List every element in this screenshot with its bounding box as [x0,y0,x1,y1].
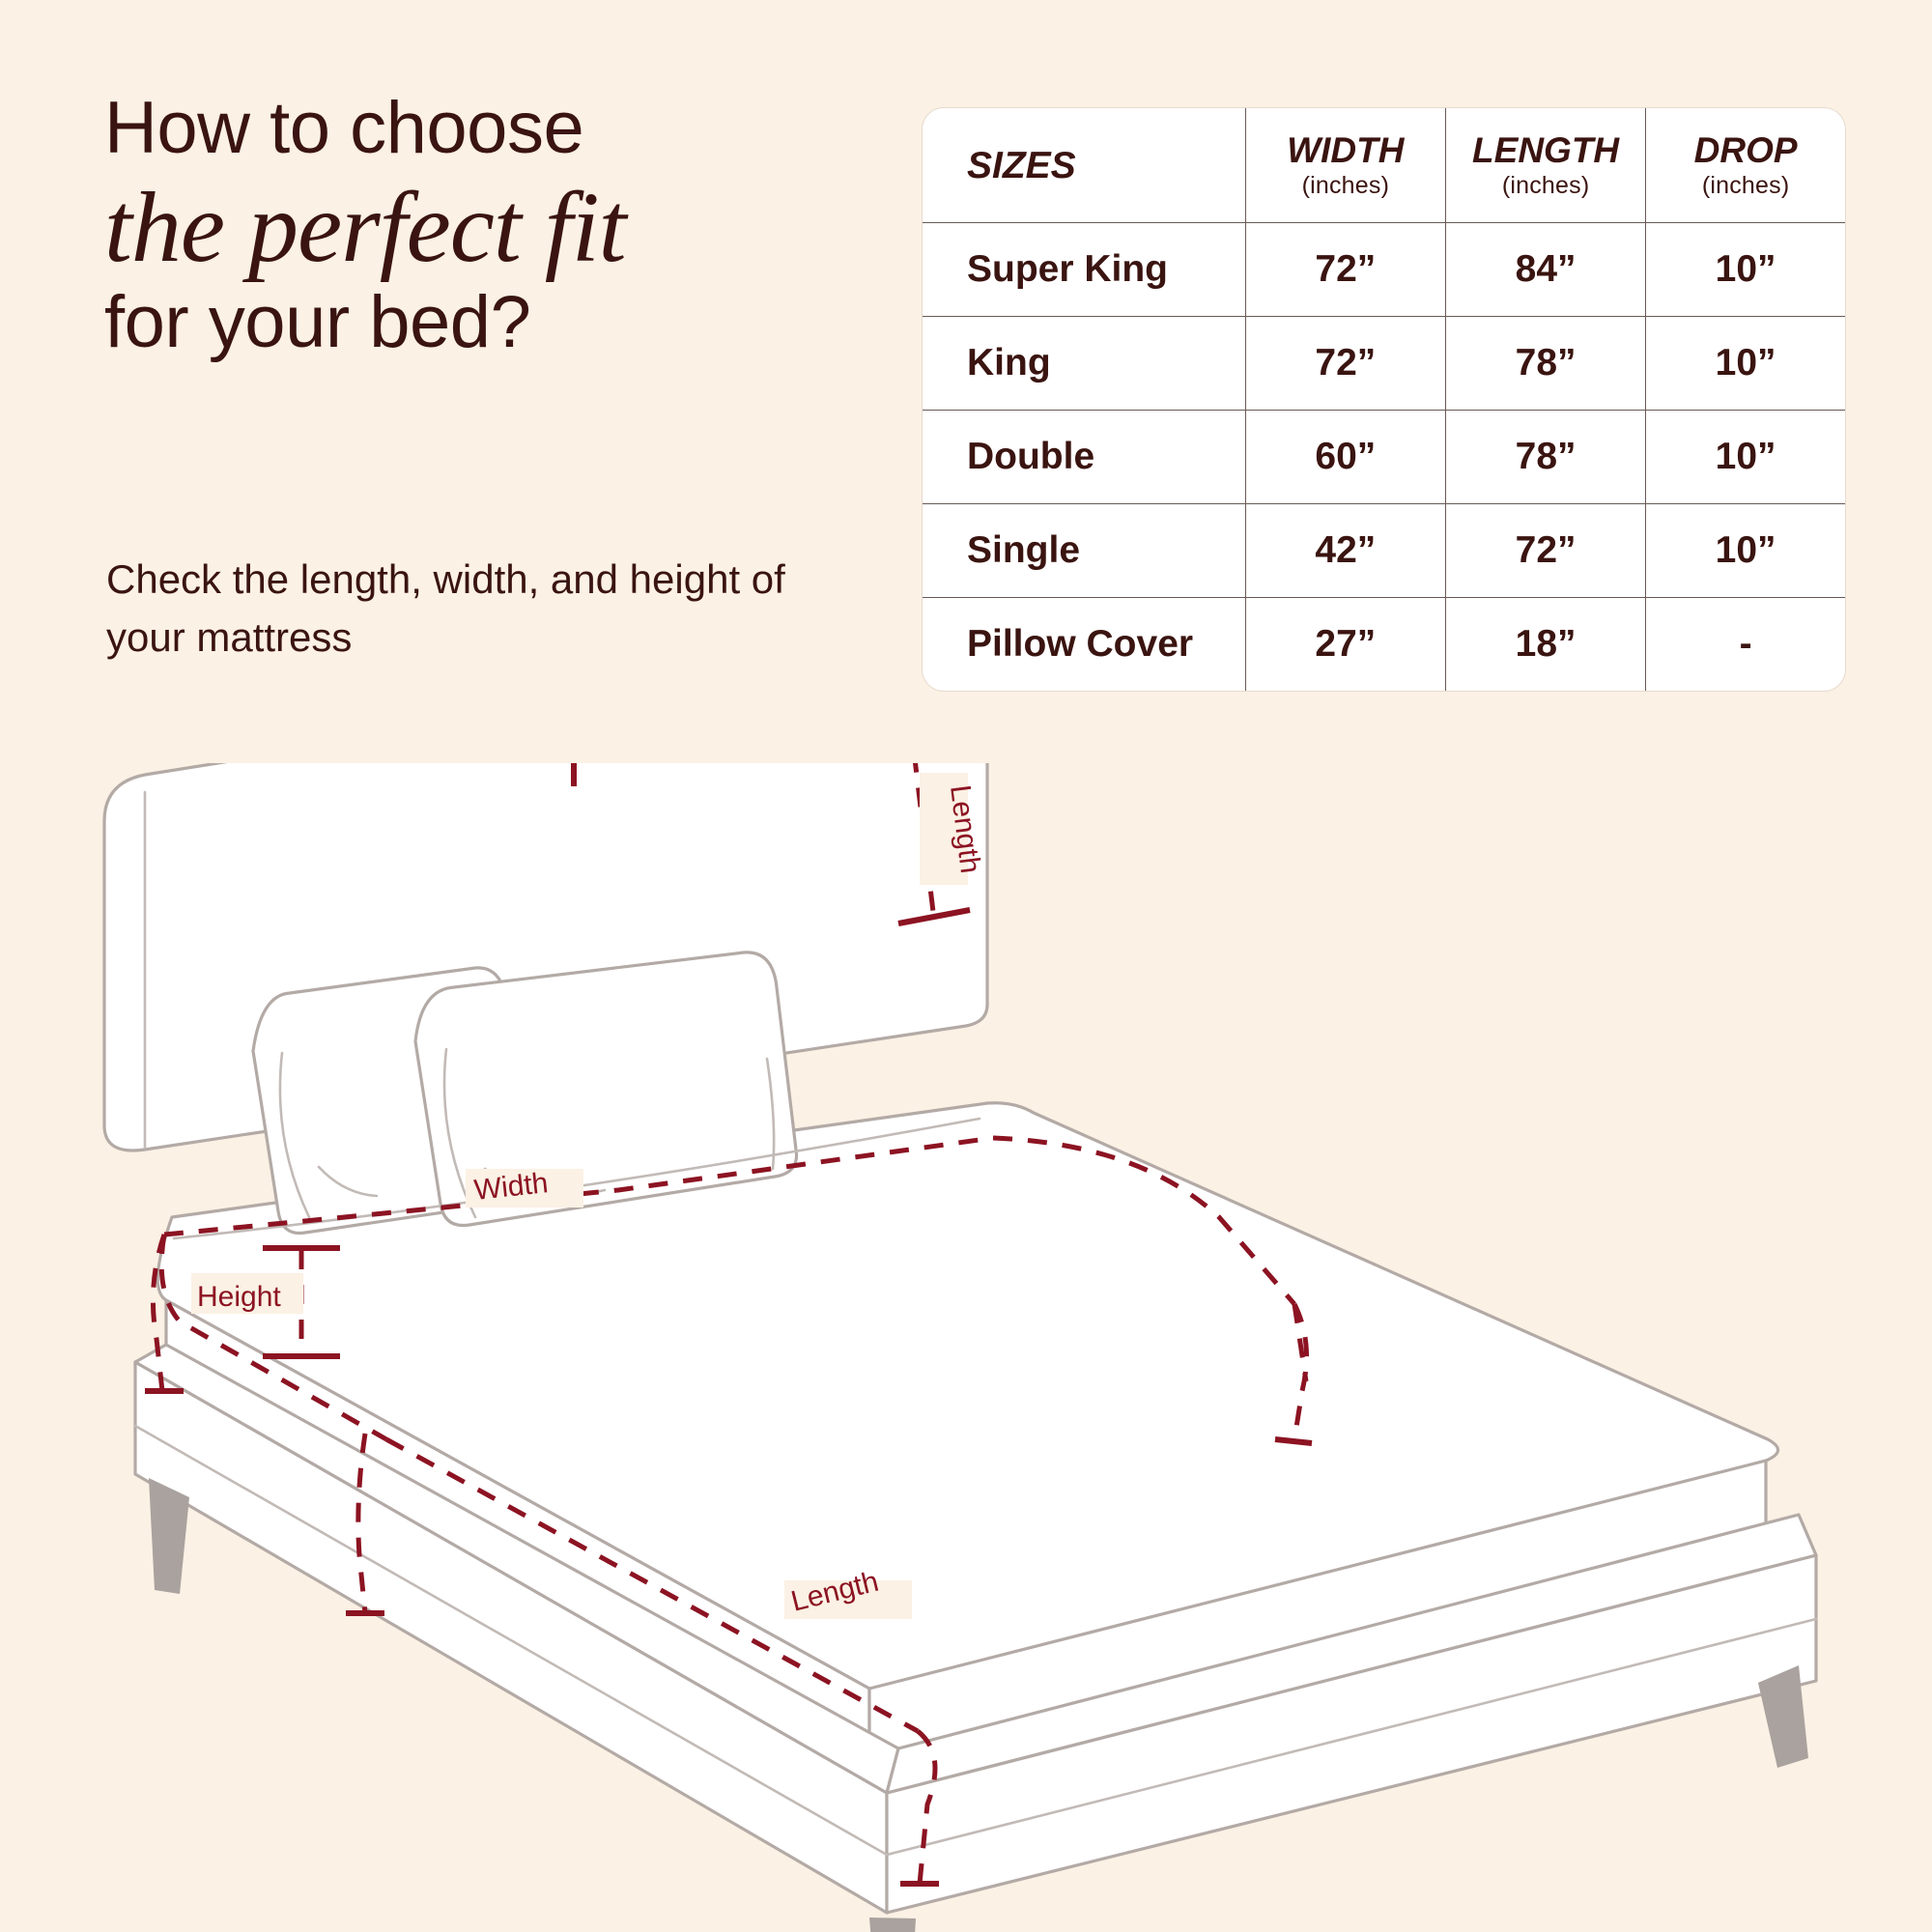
cell-size-name: Single [923,504,1245,598]
cell-drop: 10” [1646,317,1845,411]
heading-line-3: for your bed? [104,286,867,359]
cell-width: 60” [1245,411,1445,504]
table-row: Double 60” 78” 10” [923,411,1845,504]
column-header-drop-label: DROP [1694,130,1798,170]
heading-line-1: How to choose [104,92,867,165]
column-header-width: WIDTH (inches) [1245,108,1445,223]
sheet-drop-right-tick [1275,1439,1312,1443]
cell-width: 72” [1245,223,1445,317]
column-header-length: LENGTH (inches) [1445,108,1645,223]
cell-length: 78” [1445,411,1645,504]
column-header-sizes-label: SIZES [967,145,1076,186]
cell-length: 78” [1445,317,1645,411]
cell-width: 42” [1245,504,1445,598]
column-header-width-label: WIDTH [1287,130,1404,170]
cell-length: 18” [1445,598,1645,692]
column-header-drop-unit: (inches) [1656,174,1835,198]
table-row: Pillow Cover 27” 18” - [923,598,1845,692]
cell-length: 84” [1445,223,1645,317]
column-header-length-unit: (inches) [1456,174,1635,198]
page-heading: How to choose the perfect fit for your b… [104,92,867,359]
table-header-row: SIZES WIDTH (inches) LENGTH (inches) DRO… [923,108,1845,223]
cell-drop: - [1646,598,1845,692]
cell-width: 27” [1245,598,1445,692]
table-row: Super King 72” 84” 10” [923,223,1845,317]
table-row: Single 42” 72” 10” [923,504,1845,598]
table-row: King 72” 78” 10” [923,317,1845,411]
column-header-length-label: LENGTH [1472,130,1619,170]
cell-width: 72” [1245,317,1445,411]
column-header-width-unit: (inches) [1256,174,1435,198]
cell-length: 72” [1445,504,1645,598]
cell-drop: 10” [1646,223,1845,317]
cell-size-name: King [923,317,1245,411]
bed-diagram: Width Length Width Length [0,763,1932,1932]
height-label: Height [197,1281,281,1313]
heading-script-line: the perfect fit [104,175,867,280]
cell-size-name: Pillow Cover [923,598,1245,692]
cell-size-name: Double [923,411,1245,504]
size-chart-card: SIZES WIDTH (inches) LENGTH (inches) DRO… [923,108,1845,691]
cell-size-name: Super King [923,223,1245,317]
bed-leg-front-center [869,1918,916,1932]
cell-drop: 10” [1646,504,1845,598]
column-header-drop: DROP (inches) [1646,108,1845,223]
cell-drop: 10” [1646,411,1845,504]
bed-leg-front-left [149,1478,189,1594]
heading-subtext: Check the length, width, and height of y… [106,551,802,666]
column-header-sizes: SIZES [923,108,1245,223]
size-chart-table: SIZES WIDTH (inches) LENGTH (inches) DRO… [923,108,1845,691]
